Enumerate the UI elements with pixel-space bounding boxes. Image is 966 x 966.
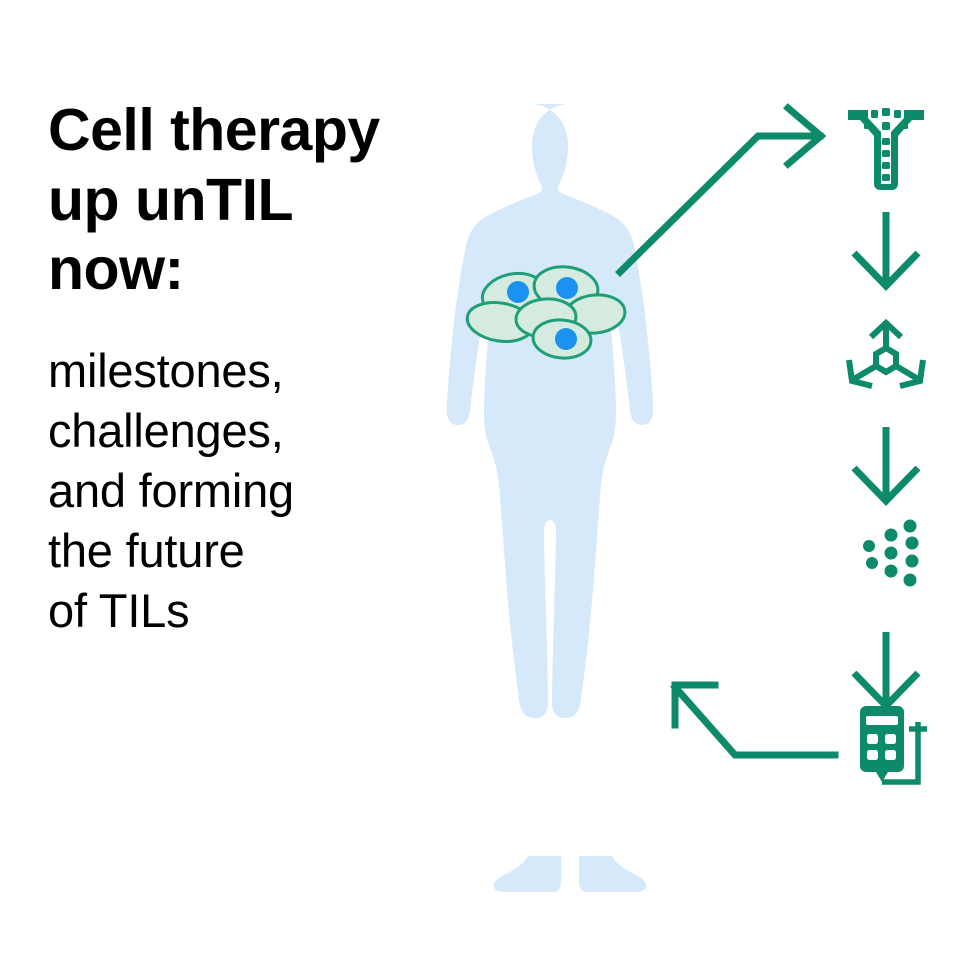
arrow-down-icon	[838, 208, 934, 304]
text-block: Cell therapy up unTIL now: milestones, c…	[48, 96, 448, 642]
page-title: Cell therapy up unTIL now:	[48, 96, 448, 305]
page-subtitle: milestones, challenges, and forming the …	[48, 305, 448, 642]
funnel-filter-icon	[838, 98, 934, 194]
infographic-canvas: Cell therapy up unTIL now: milestones, c…	[0, 0, 966, 966]
iv-infusion-bag-icon	[838, 698, 934, 794]
arrow-to-patient-icon	[645, 665, 845, 780]
cell-nucleus	[507, 281, 529, 303]
cell-nucleus	[555, 328, 577, 350]
cell-nucleus	[556, 277, 578, 299]
arrow-down-icon	[838, 423, 934, 519]
arrow-from-patient-icon	[600, 100, 845, 290]
cell-expansion-icon	[838, 315, 934, 411]
cell-population-dots-icon	[838, 508, 934, 604]
